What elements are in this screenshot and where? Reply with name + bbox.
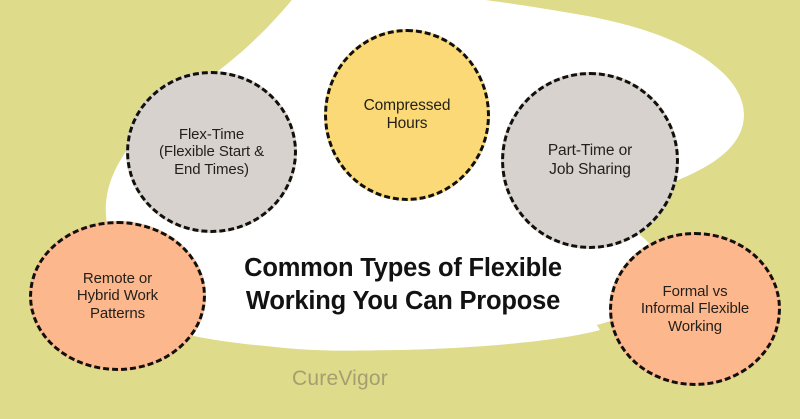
infographic-title-line-2: Working You Can Propose: [246, 287, 560, 315]
node-part-time-or-job-sharing[interactable]: Part-Time orJob Sharing: [501, 72, 679, 249]
watermark-curevigor: CureVigor: [0, 367, 680, 391]
node-compressed-hours-label: CompressedHours: [358, 97, 457, 133]
node-remote-or-hybrid-work-patterns[interactable]: Remote orHybrid WorkPatterns: [29, 221, 206, 371]
node-flex-time[interactable]: Flex-Time(Flexible Start &End Times): [126, 71, 297, 233]
node-remote-or-hybrid-work-patterns-label: Remote orHybrid WorkPatterns: [71, 270, 164, 323]
node-part-time-or-job-sharing-label: Part-Time orJob Sharing: [542, 142, 638, 178]
node-formal-vs-informal-flexible-working[interactable]: Formal vsInformal FlexibleWorking: [609, 232, 781, 386]
infographic-canvas: Flex-Time(Flexible Start &End Times) Com…: [0, 0, 800, 419]
infographic-title-line-1: Common Types of Flexible: [244, 254, 562, 282]
node-formal-vs-informal-flexible-working-label: Formal vsInformal FlexibleWorking: [635, 283, 755, 336]
node-compressed-hours[interactable]: CompressedHours: [324, 29, 490, 201]
node-flex-time-label: Flex-Time(Flexible Start &End Times): [153, 126, 270, 179]
infographic-title: Common Types of Flexible Working You Can…: [206, 252, 600, 318]
